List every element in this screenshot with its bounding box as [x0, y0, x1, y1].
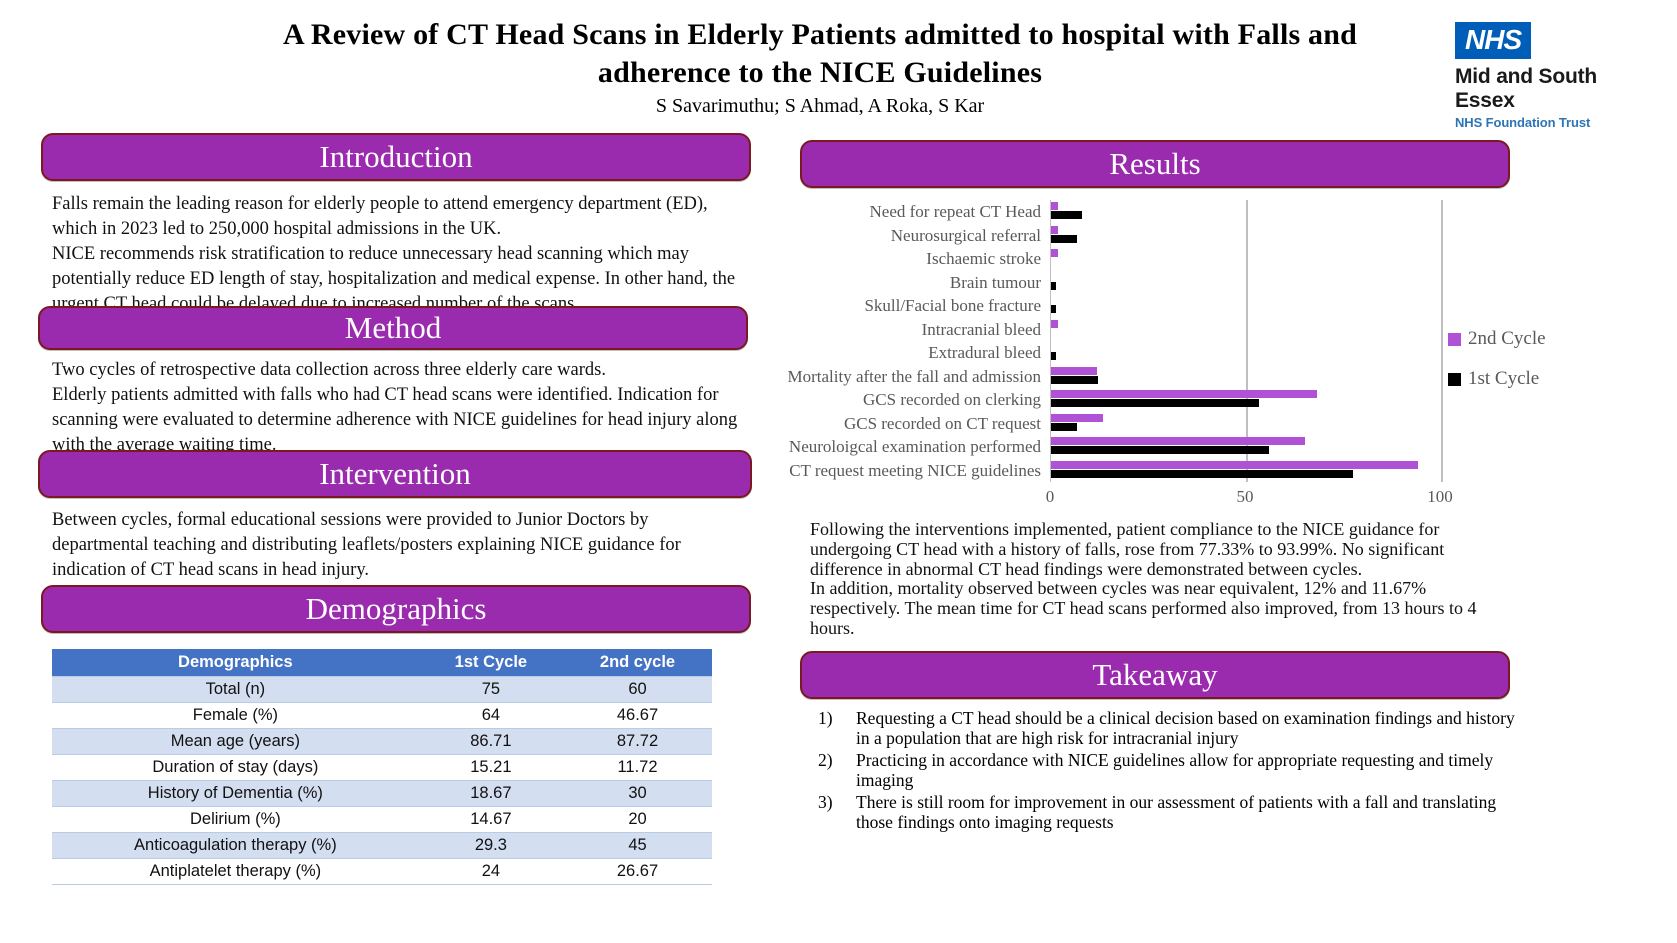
chart-bar-2nd-cycle [1051, 226, 1058, 234]
chart-bar-1st-cycle [1051, 376, 1098, 384]
table-cell-cycle2: 87.72 [563, 729, 712, 755]
table-row: Anticoagulation therapy (%)29.345 [52, 833, 712, 859]
chart-category-label: Mortality after the fall and admission [760, 365, 1050, 389]
chart-category-label: Intracranial bleed [760, 318, 1050, 342]
table-cell-cycle2: 11.72 [563, 755, 712, 781]
chart-bar-2nd-cycle [1051, 437, 1305, 445]
chart-category-label: CT request meeting NICE guidelines [760, 459, 1050, 483]
table-cell-cycle2: 20 [563, 807, 712, 833]
table-cell-metric: Delirium (%) [52, 807, 419, 833]
paragraph: Following the interventions implemented,… [810, 520, 1520, 579]
chart-bar-1st-cycle [1051, 235, 1077, 243]
chart-bar-group [1051, 341, 1441, 365]
chart-bar-1st-cycle [1051, 446, 1269, 454]
table-row: Antiplatelet therapy (%)2426.67 [52, 859, 712, 885]
chart-bar-2nd-cycle [1051, 414, 1103, 422]
section-body-intervention: Between cycles, formal educational sessi… [52, 508, 742, 583]
section-header-introduction: Introduction [41, 133, 751, 181]
chart-bar-1st-cycle [1051, 399, 1259, 407]
chart-bar-1st-cycle [1051, 282, 1056, 290]
chart-bar-1st-cycle [1051, 211, 1082, 219]
list-item: 2)Practicing in accordance with NICE gui… [812, 750, 1522, 790]
table-cell-cycle2: 45 [563, 833, 712, 859]
list-item-number: 1) [812, 708, 856, 748]
legend-label: 2nd Cycle [1468, 328, 1546, 350]
chart-bar-group [1051, 247, 1441, 271]
poster-header: A Review of CT Head Scans in Elderly Pat… [0, 0, 1677, 128]
table-cell-metric: Mean age (years) [52, 729, 419, 755]
section-header-demographics: Demographics [41, 585, 751, 633]
table-cell-metric: Total (n) [52, 677, 419, 703]
chart-bar-2nd-cycle [1051, 249, 1058, 257]
chart-legend: 2nd Cycle1st Cycle [1448, 328, 1608, 408]
nhs-trust-name: Mid and South Essex [1455, 65, 1655, 113]
chart-bar-2nd-cycle [1051, 461, 1418, 469]
chart-bar-2nd-cycle [1051, 390, 1317, 398]
paragraph: Falls remain the leading reason for elde… [52, 192, 752, 242]
table-cell-metric: Antiplatelet therapy (%) [52, 859, 419, 885]
chart-category-label: Skull/Facial bone fracture [760, 294, 1050, 318]
chart-bar-group [1051, 294, 1441, 318]
paragraph: In addition, mortality observed between … [810, 579, 1520, 638]
section-header-results: Results [800, 140, 1510, 188]
table-cell-cycle1: 29.3 [419, 833, 563, 859]
column-header-cycle1: 1st Cycle [419, 649, 563, 677]
chart-category-label: Neurosurgical referral [760, 224, 1050, 248]
chart-category-label: GCS recorded on CT request [760, 412, 1050, 436]
chart-bar-1st-cycle [1051, 423, 1077, 431]
column-header-metric: Demographics [52, 649, 419, 677]
chart-category-label: Ischaemic stroke [760, 247, 1050, 271]
chart-bar-group [1051, 200, 1441, 224]
chart-bar-group [1051, 388, 1441, 412]
author-list: S Savarimuthu; S Ahmad, A Roka, S Kar [230, 95, 1410, 118]
section-body-method: Two cycles of retrospective data collect… [52, 358, 742, 458]
chart-legend-item: 1st Cycle [1448, 368, 1608, 390]
chart-bar-1st-cycle [1051, 470, 1353, 478]
section-body-introduction: Falls remain the leading reason for elde… [52, 192, 752, 317]
table-cell-metric: Anticoagulation therapy (%) [52, 833, 419, 859]
chart-category-label: Brain tumour [760, 271, 1050, 295]
chart-x-tick-label: 100 [1427, 487, 1453, 507]
chart-category-labels: Need for repeat CT HeadNeurosurgical ref… [760, 200, 1050, 482]
table-row: Delirium (%)14.6720 [52, 807, 712, 833]
table-cell-cycle1: 15.21 [419, 755, 563, 781]
list-item-number: 3) [812, 792, 856, 832]
chart-bar-group [1051, 412, 1441, 436]
nhs-wordmark: NHS [1455, 22, 1531, 59]
nhs-logo: NHS Mid and South Essex NHS Foundation T… [1455, 22, 1655, 130]
table-cell-cycle1: 75 [419, 677, 563, 703]
takeaway-list: 1)Requesting a CT head should be a clini… [812, 708, 1522, 834]
demographics-table: Demographics 1st Cycle 2nd cycle Total (… [52, 649, 712, 885]
chart-bar-group [1051, 271, 1441, 295]
table-cell-cycle1: 24 [419, 859, 563, 885]
table-row: Mean age (years)86.7187.72 [52, 729, 712, 755]
table-cell-cycle2: 46.67 [563, 703, 712, 729]
chart-bar-group [1051, 224, 1441, 248]
chart-bar-group [1051, 459, 1441, 483]
list-item: 3)There is still room for improvement in… [812, 792, 1522, 832]
column-header-cycle2: 2nd cycle [563, 649, 712, 677]
chart-category-label: Extradural bleed [760, 341, 1050, 365]
chart-bar-1st-cycle [1051, 305, 1056, 313]
chart-bar-group [1051, 318, 1441, 342]
legend-label: 1st Cycle [1468, 368, 1539, 390]
chart-category-label: Neuroloigcal examination performed [760, 435, 1050, 459]
results-bar-chart: Need for repeat CT HeadNeurosurgical ref… [760, 200, 1520, 545]
table-cell-metric: Duration of stay (days) [52, 755, 419, 781]
table-cell-metric: History of Dementia (%) [52, 781, 419, 807]
table-row: Female (%)6446.67 [52, 703, 712, 729]
chart-legend-item: 2nd Cycle [1448, 328, 1608, 350]
chart-bar-group [1051, 435, 1441, 459]
table-cell-cycle1: 64 [419, 703, 563, 729]
list-item-text: Requesting a CT head should be a clinica… [856, 708, 1522, 748]
list-item-number: 2) [812, 750, 856, 790]
table-cell-cycle1: 86.71 [419, 729, 563, 755]
table-cell-metric: Female (%) [52, 703, 419, 729]
section-header-takeaway: Takeaway [800, 651, 1510, 699]
chart-category-label: Need for repeat CT Head [760, 200, 1050, 224]
paragraph: Between cycles, formal educational sessi… [52, 508, 742, 583]
table-cell-cycle2: 30 [563, 781, 712, 807]
nhs-trust-subtitle: NHS Foundation Trust [1455, 115, 1655, 130]
chart-bar-1st-cycle [1051, 352, 1056, 360]
chart-bar-2nd-cycle [1051, 320, 1058, 328]
section-header-method: Method [38, 306, 748, 350]
page-title: A Review of CT Head Scans in Elderly Pat… [230, 16, 1410, 92]
chart-x-axis: 050100 [1050, 482, 1440, 508]
list-item: 1)Requesting a CT head should be a clini… [812, 708, 1522, 748]
table-row: Duration of stay (days)15.2111.72 [52, 755, 712, 781]
chart-x-tick-label: 50 [1237, 487, 1254, 507]
table-row: History of Dementia (%)18.6730 [52, 781, 712, 807]
legend-swatch-icon [1448, 373, 1461, 386]
legend-swatch-icon [1448, 333, 1461, 346]
table-header-row: Demographics 1st Cycle 2nd cycle [52, 649, 712, 677]
chart-plot-area [1050, 200, 1441, 482]
section-header-intervention: Intervention [38, 450, 752, 498]
table-cell-cycle1: 18.67 [419, 781, 563, 807]
chart-x-tick-label: 0 [1046, 487, 1055, 507]
table-cell-cycle1: 14.67 [419, 807, 563, 833]
paragraph: Two cycles of retrospective data collect… [52, 358, 742, 383]
chart-gridline [1441, 200, 1443, 482]
chart-category-label: GCS recorded on clerking [760, 388, 1050, 412]
list-item-text: Practicing in accordance with NICE guide… [856, 750, 1522, 790]
chart-bar-2nd-cycle [1051, 367, 1097, 375]
chart-bar-2nd-cycle [1051, 202, 1058, 210]
section-body-results: Following the interventions implemented,… [810, 520, 1520, 639]
table-cell-cycle2: 60 [563, 677, 712, 703]
chart-bar-group [1051, 365, 1441, 389]
list-item-text: There is still room for improvement in o… [856, 792, 1522, 832]
paragraph: Elderly patients admitted with falls who… [52, 383, 742, 458]
table-cell-cycle2: 26.67 [563, 859, 712, 885]
table-row: Total (n)7560 [52, 677, 712, 703]
